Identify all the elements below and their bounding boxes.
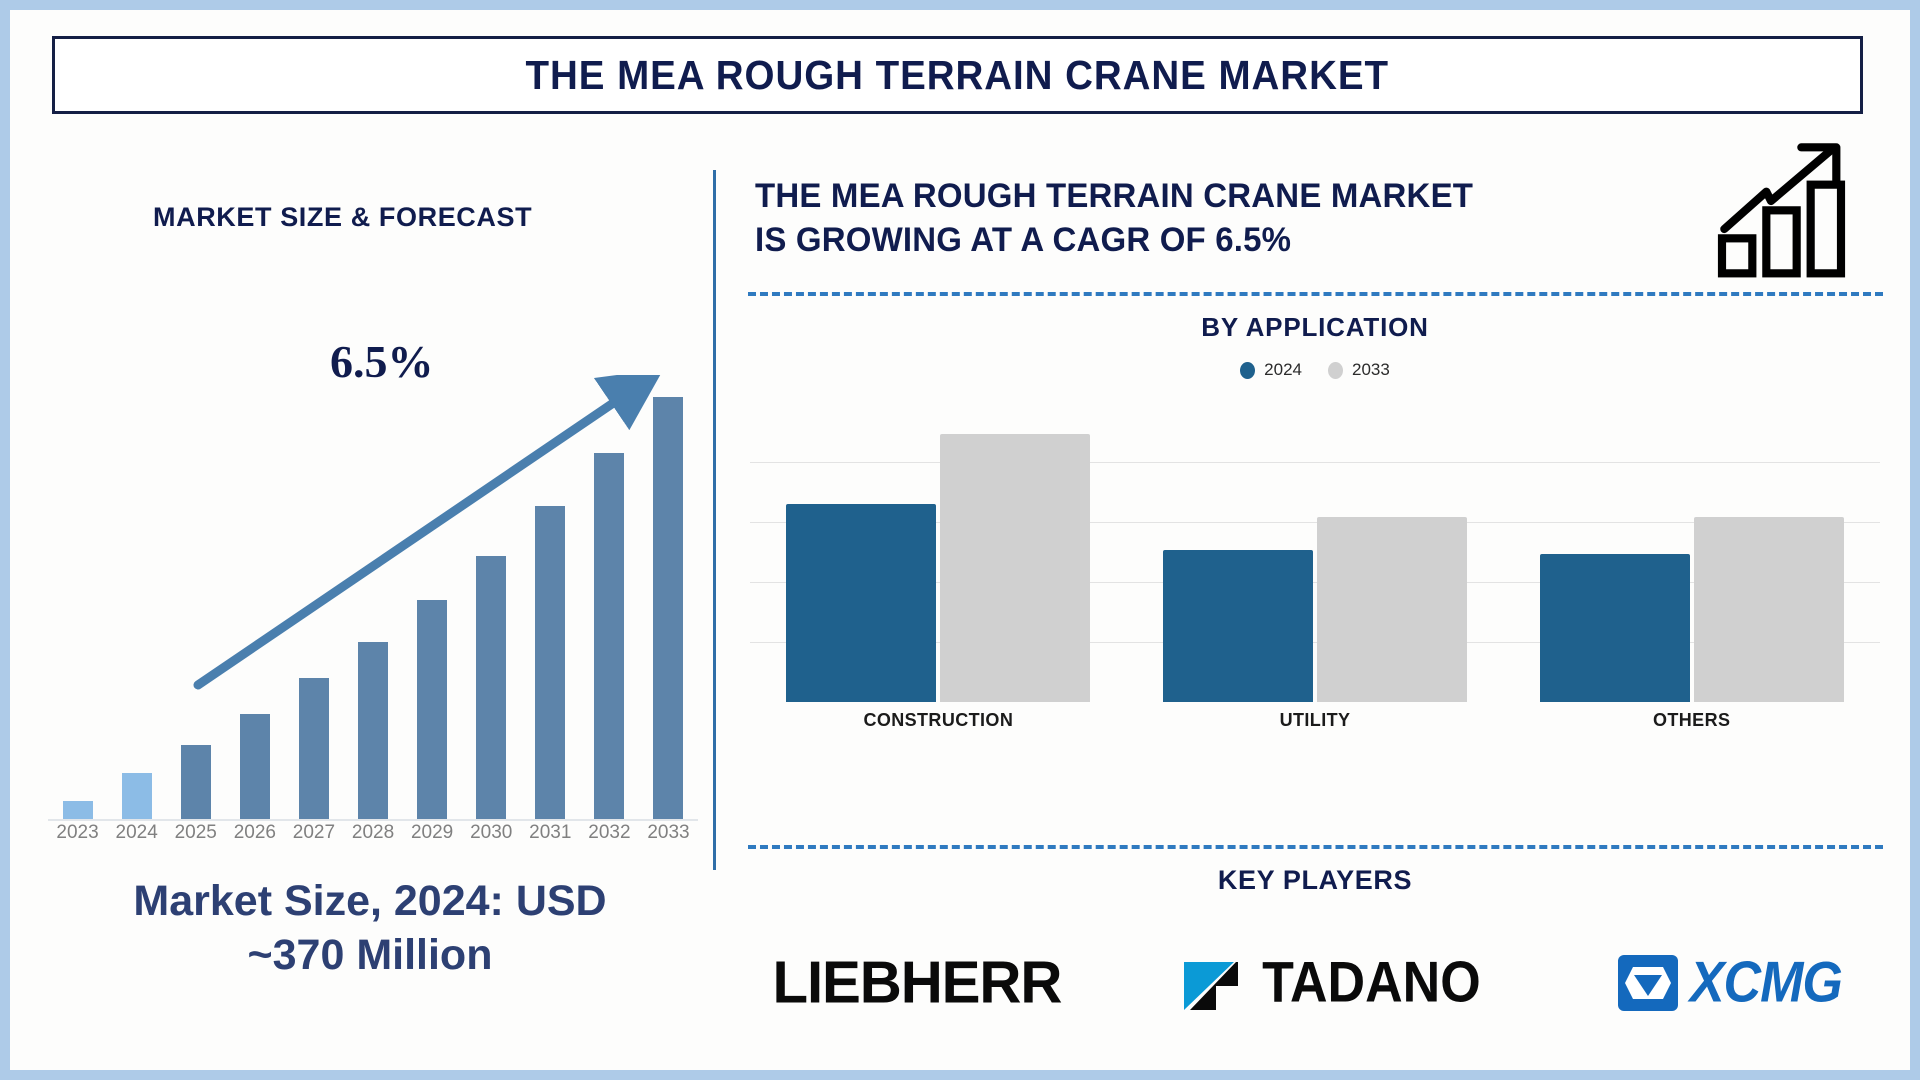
divider-bottom [748,845,1883,849]
chart-legend: 20242033 [720,360,1910,380]
forecast-year-label: 2030 [462,822,521,850]
application-bar-group [1127,402,1504,702]
forecast-year-label: 2026 [225,822,284,850]
logo-tadano: TADANO [1182,952,1481,1014]
application-category-label: UTILITY [1127,710,1504,731]
infographic-page: THE MEA ROUGH TERRAIN CRANE MARKET MARKE… [0,0,1920,1080]
forecast-bar-slot [521,375,580,820]
xcmg-mark-icon [1617,953,1679,1013]
legend-label: 2033 [1352,360,1390,380]
forecast-bar-slot [403,375,462,820]
key-players-logos: LIEBHERR TADANO XCMG [720,928,1910,1038]
forecast-bar-slot [48,375,107,820]
application-bar-groups [750,402,1880,702]
forecast-bar [535,506,565,820]
page-title: THE MEA ROUGH TERRAIN CRANE MARKET [526,52,1389,99]
legend-label: 2024 [1264,360,1302,380]
legend-dot-icon [1328,362,1343,379]
cagr-headline-line-2: IS GROWING AT A CAGR OF 6.5% [755,219,1686,263]
application-bar-2033 [1694,517,1844,702]
right-panel: THE MEA ROUGH TERRAIN CRANE MARKET IS GR… [720,120,1910,1080]
forecast-bars [48,375,698,820]
panel-divider [713,170,716,870]
forecast-bar [358,642,388,820]
cagr-headline: THE MEA ROUGH TERRAIN CRANE MARKET IS GR… [755,175,1686,262]
forecast-bar-slot [639,375,698,820]
growth-bar-chart-arrow-icon [1715,138,1855,278]
forecast-year-label: 2031 [521,822,580,850]
forecast-bar [417,600,447,820]
legend-dot-icon [1240,362,1255,379]
application-category-labels: CONSTRUCTIONUTILITYOTHERS [750,710,1880,731]
logo-xcmg-text: XCMG [1690,950,1842,1016]
logo-liebherr: LIEBHERR [773,949,1062,1018]
forecast-year-label: 2029 [403,822,462,850]
forecast-year-labels: 2023202420252026202720282029203020312032… [48,822,698,850]
market-size-line-1: Market Size, 2024: USD [133,877,606,925]
application-category-label: CONSTRUCTION [750,710,1127,731]
application-bar-2024 [1540,554,1690,702]
market-size-forecast-heading: MARKET SIZE & FORECAST [153,202,532,233]
forecast-bar [653,397,683,820]
market-size-forecast-chart: 2023202420252026202720282029203020312032… [48,375,698,850]
forecast-bar [122,773,152,820]
legend-item: 2033 [1328,360,1390,380]
legend-item: 2024 [1240,360,1302,380]
forecast-bar [63,801,93,820]
by-application-chart [750,402,1880,702]
forecast-bar-slot [107,375,166,820]
divider-top [748,292,1883,296]
forecast-year-label: 2023 [48,822,107,850]
chart-baseline [48,819,698,821]
forecast-year-label: 2032 [580,822,639,850]
forecast-year-label: 2025 [166,822,225,850]
application-bar-2024 [1163,550,1313,702]
forecast-year-label: 2033 [639,822,698,850]
cagr-headline-line-1: THE MEA ROUGH TERRAIN CRANE MARKET [755,175,1686,219]
application-category-label: OTHERS [1503,710,1880,731]
forecast-bar-slot [284,375,343,820]
left-panel: MARKET SIZE & FORECAST 6.5% 202320242025… [20,120,710,1080]
application-bar-2033 [1317,517,1467,702]
by-application-title: BY APPLICATION [720,312,1910,343]
market-size-value: Market Size, 2024: USD ~370 Million [30,875,710,983]
tadano-mark-icon [1182,952,1246,1014]
application-bar-group [1503,402,1880,702]
forecast-bar-slot [343,375,402,820]
forecast-bar-slot [462,375,521,820]
forecast-bar-slot [580,375,639,820]
forecast-year-label: 2027 [284,822,343,850]
forecast-year-label: 2028 [343,822,402,850]
page-title-box: THE MEA ROUGH TERRAIN CRANE MARKET [52,36,1863,114]
forecast-year-label: 2024 [107,822,166,850]
forecast-bar [181,745,211,820]
forecast-bar [476,556,506,820]
logo-tadano-text: TADANO [1262,950,1481,1016]
application-bar-group [750,402,1127,702]
application-bar-2024 [786,504,936,702]
logo-xcmg: XCMG [1617,953,1842,1013]
forecast-bar [594,453,624,820]
forecast-bar [299,678,329,820]
application-bar-2033 [940,434,1090,702]
forecast-bar [240,714,270,820]
forecast-bar-slot [166,375,225,820]
key-players-title: KEY PLAYERS [720,865,1910,896]
forecast-bar-slot [225,375,284,820]
market-size-line-2: ~370 Million [248,931,493,979]
